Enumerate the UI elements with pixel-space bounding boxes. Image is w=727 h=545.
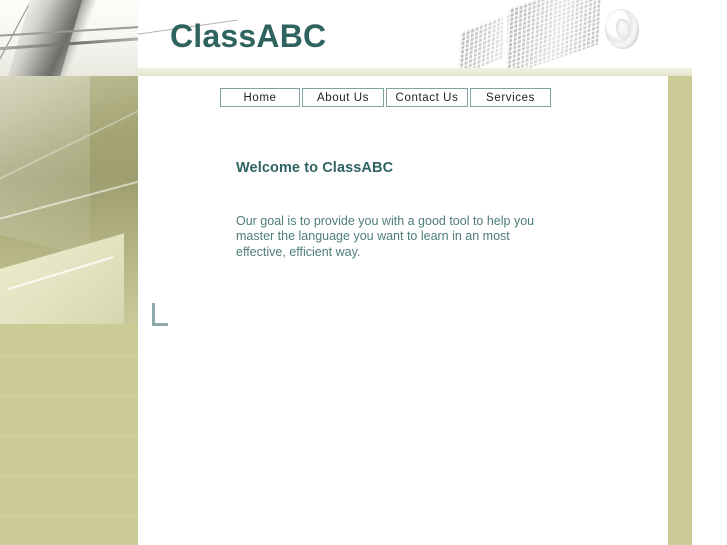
skyscraper-icon xyxy=(454,0,609,76)
site-header: ClassABC xyxy=(138,0,727,76)
tower-right-shape xyxy=(506,0,601,76)
content-panel: Home About Us Contact Us Services Welcom… xyxy=(138,76,668,545)
main-navigation: Home About Us Contact Us Services xyxy=(220,88,551,107)
olive-solid-block xyxy=(0,324,138,545)
light-wedge xyxy=(0,76,90,257)
olive-right-strip xyxy=(668,76,692,545)
nav-item-services[interactable]: Services xyxy=(470,88,551,107)
intro-paragraph: Our goal is to provide you with a good t… xyxy=(236,214,558,261)
page-root: ClassABC Home About Us Contact Us Servic… xyxy=(0,0,727,545)
page-title: Welcome to ClassABC xyxy=(236,160,393,176)
header-underline-band xyxy=(138,68,692,76)
olive-tinted-photo xyxy=(0,76,138,324)
site-title: ClassABC xyxy=(170,20,326,52)
nav-item-about-us[interactable]: About Us xyxy=(302,88,384,107)
l-corner-marker-icon xyxy=(152,303,168,326)
left-photo-column xyxy=(0,0,138,545)
nav-item-contact-us[interactable]: Contact Us xyxy=(386,88,468,107)
nav-item-home[interactable]: Home xyxy=(220,88,300,107)
ceiling-photo xyxy=(0,0,138,76)
